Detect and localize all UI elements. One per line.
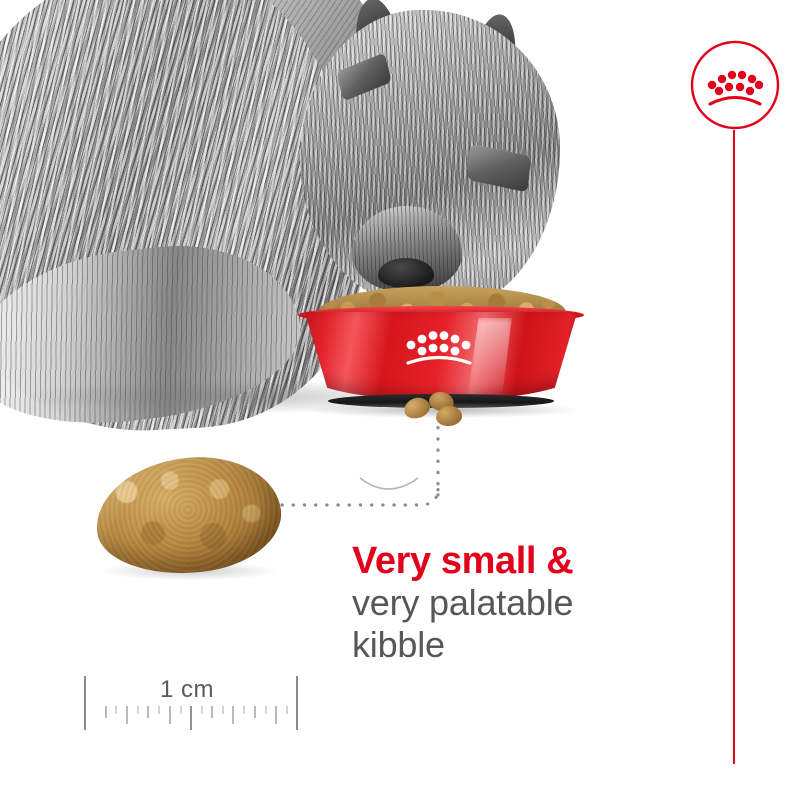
leader-line <box>270 400 470 530</box>
scale-label: 1 cm <box>160 676 214 704</box>
product-feature-panel: Very small & very palatable kibble <box>0 0 800 800</box>
callout-headline: Very small & <box>352 540 682 582</box>
kibble-closeup <box>90 449 286 583</box>
callout-subline-1: very palatable <box>352 582 682 624</box>
dog-nose <box>378 258 434 288</box>
callout-text: Very small & very palatable kibble <box>352 540 682 666</box>
royal-canin-logo-icon[interactable] <box>688 38 782 132</box>
callout-subline-2: kibble <box>352 624 682 666</box>
logo-stem-line <box>733 130 735 764</box>
food-bowl <box>296 286 586 414</box>
royal-canin-crown-icon <box>404 330 478 370</box>
